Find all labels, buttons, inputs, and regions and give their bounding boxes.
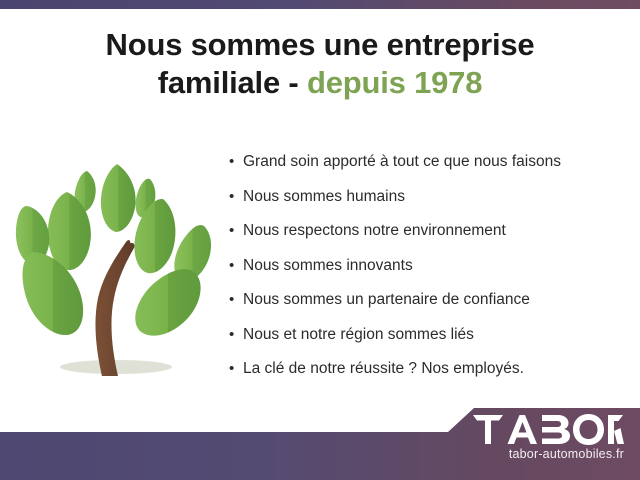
- footer: tabor-automobiles.fr: [0, 400, 640, 480]
- list-item-label: La clé de notre réussite ? Nos employés.: [243, 359, 634, 379]
- title-line-2: familiale - depuis 1978: [0, 64, 640, 102]
- list-item: • Grand soin apporté à tout ce que nous …: [229, 152, 634, 187]
- title-line-2-main: familiale -: [158, 65, 307, 100]
- list-item: • Nous sommes innovants: [229, 256, 634, 291]
- list-item-label: Nous sommes un partenaire de confiance: [243, 290, 634, 310]
- top-accent-bar: [0, 0, 640, 9]
- brand-logo[interactable]: tabor-automobiles.fr: [472, 413, 624, 461]
- list-item: • Nous et notre région sommes liés: [229, 325, 634, 360]
- value-list: • Grand soin apporté à tout ce que nous …: [229, 152, 634, 394]
- leaf-top-center: [101, 164, 136, 232]
- list-item-label: Nous sommes humains: [243, 187, 634, 207]
- tree-leaves: [16, 164, 211, 336]
- bullet-marker: •: [229, 221, 243, 241]
- list-item-label: Grand soin apporté à tout ce que nous fa…: [243, 152, 634, 172]
- list-item: • Nous sommes un partenaire de confiance: [229, 290, 634, 325]
- tabor-wordmark-icon: [472, 413, 624, 446]
- title-accent-since: depuis 1978: [307, 65, 482, 100]
- list-item-label: Nous sommes innovants: [243, 256, 634, 276]
- title-line-1: Nous sommes une entreprise: [106, 27, 535, 62]
- bullet-marker: •: [229, 359, 243, 379]
- brand-url: tabor-automobiles.fr: [472, 447, 624, 461]
- list-item: • Nous sommes humains: [229, 187, 634, 222]
- tree-illustration: [8, 150, 228, 390]
- bullet-marker: •: [229, 256, 243, 276]
- page-title: Nous sommes une entreprise familiale - d…: [0, 26, 640, 102]
- list-item-label: Nous respectons notre environnement: [243, 221, 634, 241]
- bullet-marker: •: [229, 325, 243, 345]
- list-item-label: Nous et notre région sommes liés: [243, 325, 634, 345]
- bullet-marker: •: [229, 152, 243, 172]
- leaf-lower-right: [135, 269, 200, 336]
- bullet-marker: •: [229, 187, 243, 207]
- bullet-marker: •: [229, 290, 243, 310]
- list-item: • Nous respectons notre environnement: [229, 221, 634, 256]
- list-item: • La clé de notre réussite ? Nos employé…: [229, 359, 634, 394]
